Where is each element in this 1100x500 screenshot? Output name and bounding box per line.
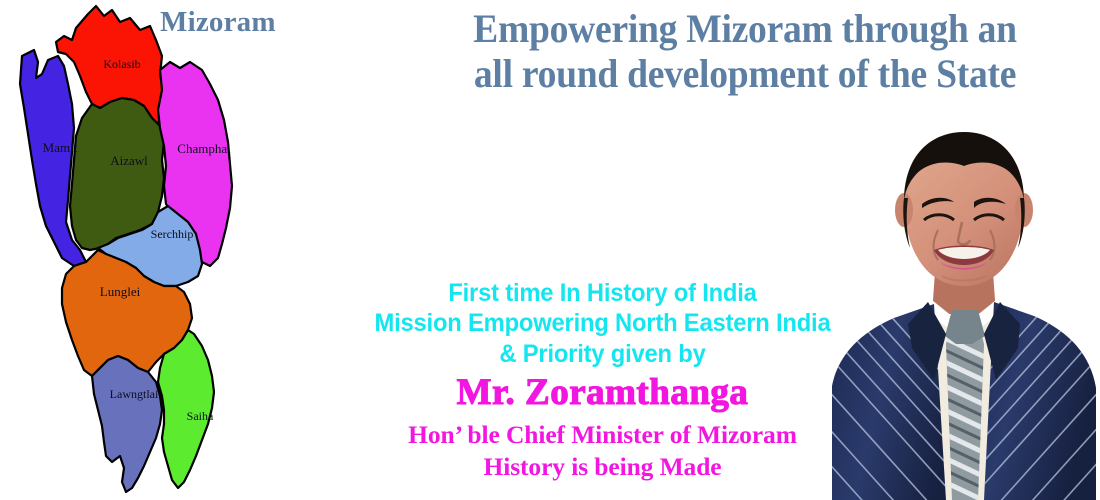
map-label-champhai: Champhai [177,141,231,156]
map-label-aizawl: Aizawl [110,153,148,168]
map-label-saiha: Saiha [187,409,214,423]
portrait-svg [828,118,1100,500]
map-label-mamit: Mamit [43,140,78,155]
map-title: Mizoram [160,6,276,39]
map-label-lawngtlai: Lawngtlai [110,387,159,401]
district-shape-lawngtlai[interactable] [92,356,162,492]
message-line-1: First time In History of India [344,278,862,308]
message-line-3: & Priority given by [344,339,862,369]
mizoram-banner: Mamit Kolasib Aizawl Champhai Serchhip L… [0,0,1100,500]
page-title: Empowering Mizoram through an all round … [421,6,1070,96]
message-line-4: Hon’ ble Chief Minister of Mizoram [330,419,875,452]
message-block: First time In History of India Mission E… [330,278,875,484]
chief-minister-name: Mr. Zoramthanga [330,374,875,413]
mizoram-district-map: Mamit Kolasib Aizawl Champhai Serchhip L… [12,0,252,500]
map-label-kolasib: Kolasib [103,57,140,71]
map-label-serchhip: Serchhip [151,227,194,241]
map-svg: Mamit Kolasib Aizawl Champhai Serchhip L… [12,0,252,500]
tie-knot [945,310,985,344]
message-line-5: History is being Made [330,451,875,484]
headline-line-1: Empowering Mizoram through an [473,6,1017,51]
chief-minister-portrait [828,118,1100,500]
headline-line-2: all round development of the State [421,51,1070,96]
message-line-2: Mission Empowering North Eastern India [344,308,862,338]
map-label-lunglei: Lunglei [100,284,141,299]
